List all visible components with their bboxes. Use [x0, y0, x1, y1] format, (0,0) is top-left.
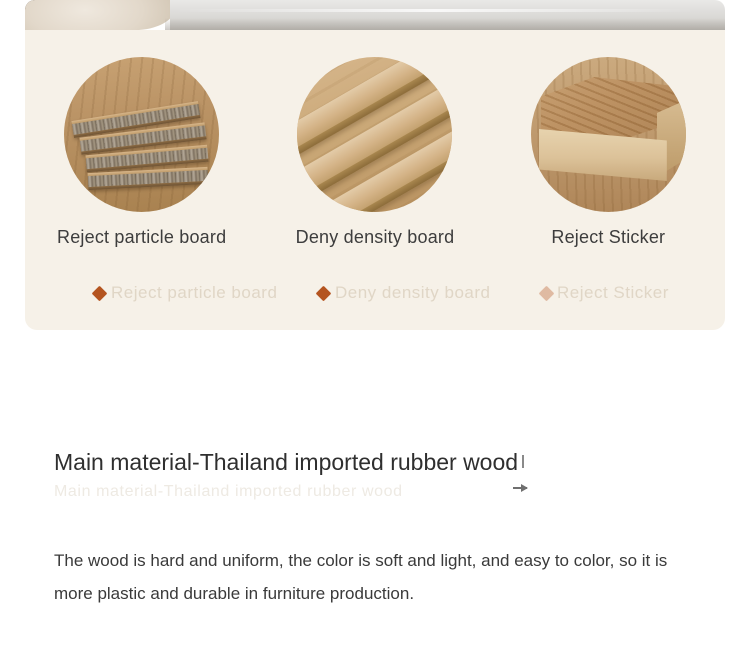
feature-caption: Deny density board [296, 227, 455, 248]
particle-board-stack-photo [64, 57, 219, 212]
feature-caption: Reject Sticker [551, 227, 665, 248]
section-body-text: The wood is hard and uniform, the color … [54, 544, 704, 610]
diamond-bullet-icon [539, 286, 555, 302]
solid-wood-block-photo [531, 57, 686, 212]
feature-item-sticker: Reject Sticker [513, 57, 703, 248]
feature-circle-row: Reject particle board Deny density board [25, 57, 725, 248]
table-shadow [165, 18, 725, 30]
feature-caption: Reject particle board [57, 227, 226, 248]
ghost-subheading: Main material-Thailand imported rubber w… [54, 483, 524, 501]
diamond-bullet-icon [92, 286, 108, 302]
feature-item-density-board: Deny density board [280, 57, 470, 248]
ghost-caption: Reject particle board [111, 283, 277, 303]
ghost-caption: Deny density board [335, 283, 490, 303]
density-board-slabs-photo [297, 57, 452, 212]
arrow-right-icon [513, 487, 527, 489]
feature-panel: Reject particle board Deny density board [25, 30, 725, 330]
product-detail-page: Reject particle board Deny density board [0, 0, 750, 656]
pillow-shape [25, 0, 175, 30]
feature-item-particle-board: Reject particle board [47, 57, 237, 248]
diamond-bullet-icon [316, 286, 332, 302]
tick-mark-icon [522, 455, 524, 468]
section-heading: Main material-Thailand imported rubber w… [54, 448, 534, 476]
ghost-caption: Reject Sticker [557, 283, 669, 303]
top-photo-strip [25, 0, 725, 30]
table-grain-highlight [175, 9, 695, 12]
